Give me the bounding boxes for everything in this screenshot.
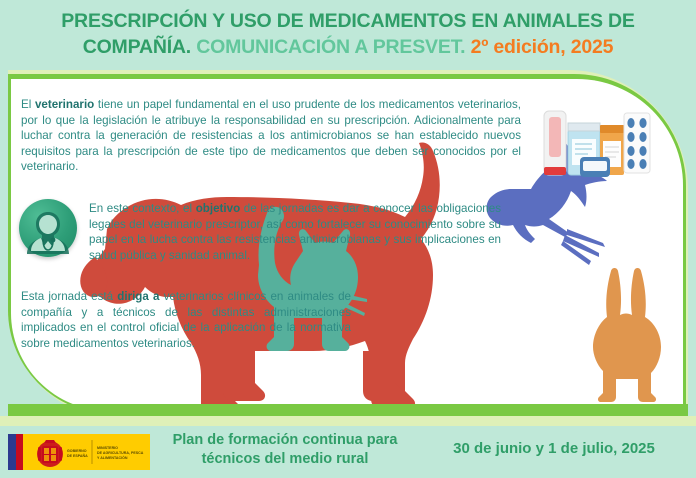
paragraph-dirigida: Esta jornada está diriga a veterinarios …	[21, 289, 351, 351]
dog-icon	[80, 142, 440, 411]
veterinarian-icon	[19, 199, 77, 257]
plan-text: Plan de formación continua para técnicos…	[160, 431, 410, 469]
event-date: 30 de junio y 1 de julio, 2025	[420, 440, 688, 457]
paragraph-objetivo: En este contexto, el objetivo de las jor…	[89, 201, 501, 263]
government-logo: GOBIERNO DE ESPAÑA MINISTERIO DE AGRICUL…	[8, 434, 150, 470]
poster-root: PRESCRIPCIÓN Y USO DE MEDICAMENTOS EN AN…	[0, 0, 696, 478]
logo-ministerio-line2: DE AGRICULTURA, PESCA	[97, 451, 144, 455]
title-subject-text: COMPAÑÍA.	[83, 36, 191, 58]
poster-footer: GOBIERNO DE ESPAÑA MINISTERIO DE AGRICUL…	[0, 426, 696, 478]
logo-ministerio-line1: MINISTERIO	[97, 446, 118, 450]
logo-gobierno-line2: DE ESPAÑA	[67, 453, 88, 458]
plan-line-2: técnicos del medio rural	[160, 450, 410, 469]
grass-pale-strip	[0, 416, 696, 426]
paragraph-veterinario: El veterinario tiene un papel fundamenta…	[21, 97, 521, 175]
p3-bold: diriga a	[117, 290, 159, 303]
p3-text-a: Esta jornada está	[21, 290, 117, 303]
title-line-1: PRESCRIPCIÓN Y USO DE MEDICAMENTOS EN AN…	[0, 8, 696, 34]
logo-ministerio-line3: Y ALIMENTACIÓN	[97, 455, 128, 460]
card-inner-panel: El veterinario tiene un papel fundamenta…	[11, 79, 683, 411]
p1-bold: veterinario	[35, 98, 94, 111]
plan-line-1: Plan de formación continua para	[160, 431, 410, 450]
title-presvet-text: COMUNICACIÓN A PRESVET.	[196, 36, 465, 58]
p2-bold: objetivo	[196, 202, 240, 215]
title-line-1-text: PRESCRIPCIÓN Y USO DE MEDICAMENTOS EN AN…	[61, 10, 634, 32]
poster-title: PRESCRIPCIÓN Y USO DE MEDICAMENTOS EN AN…	[0, 0, 696, 70]
p1-text-b: tiene un papel fundamental en el uso pru…	[21, 98, 521, 173]
content-card: El veterinario tiene un papel fundamenta…	[8, 70, 688, 420]
title-edition-text: 2º edición, 2025	[471, 36, 614, 58]
p1-text-a: El	[21, 98, 35, 111]
title-line-2: COMPAÑÍA. COMUNICACIÓN A PRESVET. 2º edi…	[0, 34, 696, 60]
grass-strip	[8, 404, 688, 416]
logo-gobierno-line1: GOBIERNO	[67, 449, 87, 453]
p2-text-a: En este contexto, el	[89, 202, 196, 215]
rabbit-icon	[593, 268, 661, 402]
medicines-icon	[538, 101, 654, 193]
